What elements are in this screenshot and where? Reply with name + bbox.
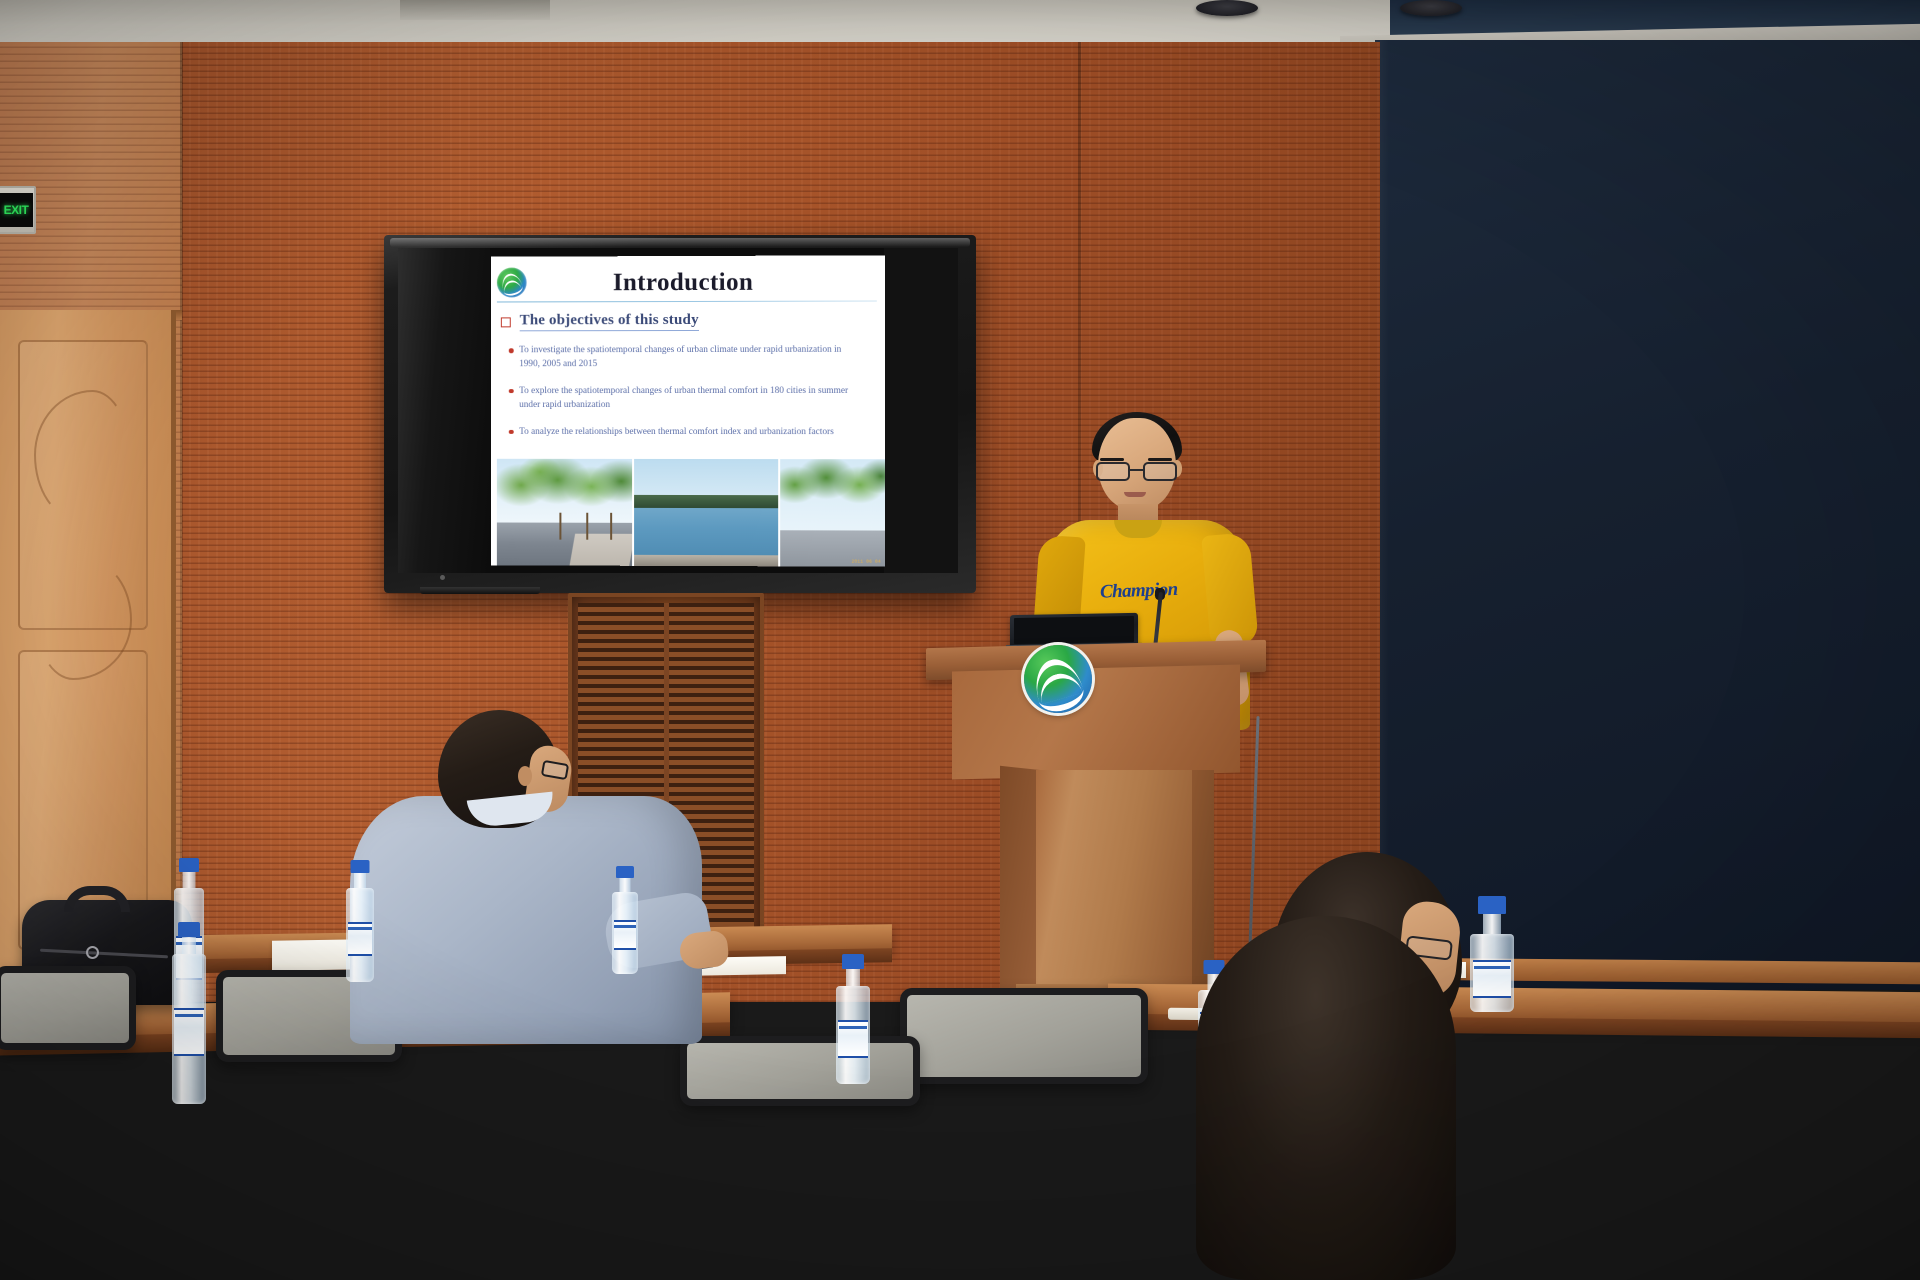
slide-photo-timestamp: 2011 06 04 [852, 560, 881, 565]
screen-panel: Introduction The objectives of this stud… [398, 248, 958, 573]
tshirt-brand-logo: Champion [1100, 578, 1195, 603]
slide-body: The objectives of this study To investig… [491, 304, 885, 440]
glasses-icon [1094, 462, 1180, 482]
chair-back[interactable] [900, 988, 1148, 1084]
conference-room-photo: EXIT Introduction The ob [0, 0, 1920, 1280]
water-bottle[interactable] [172, 922, 206, 1104]
round-bullet-icon [509, 348, 513, 352]
backpack-zipper [40, 949, 168, 959]
slide-bullet-text: To investigate the spatiotemporal change… [519, 343, 861, 372]
ceiling-spotlight-icon [1400, 0, 1462, 16]
exit-sign-label: EXIT [4, 203, 29, 217]
attendee-ear [518, 766, 532, 786]
screen-bezel-glint [390, 238, 970, 247]
water-bottle[interactable] [346, 860, 374, 982]
display-screen: Introduction The objectives of this stud… [384, 235, 976, 593]
slide-photo-strip: 2011 06 04 [491, 459, 885, 567]
slide-bullet-text: To explore the spatiotemporal changes of… [519, 384, 861, 413]
slide-bullet-item: To investigate the spatiotemporal change… [509, 343, 875, 372]
backpack-zipper-pull-icon [86, 946, 99, 959]
round-bullet-icon [509, 430, 513, 434]
presenter-eyebrow [1148, 458, 1172, 461]
slide-bullet-item: To explore the spatiotemporal changes of… [509, 384, 875, 413]
chair-back[interactable] [0, 966, 136, 1050]
round-bullet-icon [509, 389, 513, 393]
presenter-mouth [1124, 492, 1146, 497]
screen-power-led-icon [440, 575, 445, 580]
slide-bullet-item: To analyze the relationships between the… [509, 425, 875, 440]
chair-back[interactable] [680, 1036, 920, 1106]
ceiling-vent [400, 0, 550, 20]
square-bullet-icon [501, 317, 511, 327]
podium-globe-logo-icon [1024, 645, 1092, 713]
slide-bullet-text: To analyze the relationships between the… [519, 425, 834, 440]
slide-photo-lake [634, 459, 778, 566]
slide-photo-park-road [497, 459, 632, 566]
attendee-hand [678, 930, 730, 971]
slide-photo-avenue: 2011 06 04 [780, 459, 885, 567]
glasses-bridge [1130, 469, 1143, 471]
glasses-lens-left [1096, 462, 1130, 481]
blue-wall-panel [1375, 40, 1920, 990]
glasses-lens-right [1143, 462, 1177, 481]
ceiling-spotlight-icon [1196, 0, 1258, 16]
presentation-slide: Introduction The objectives of this stud… [491, 255, 885, 566]
screen-stand [420, 587, 540, 594]
water-bottle[interactable] [836, 954, 870, 1084]
laptop-screen-panel [1014, 616, 1134, 644]
foreground-attendee-head [1196, 916, 1456, 1280]
seated-attendee [350, 700, 710, 1040]
slide-bullet-list: To investigate the spatiotemporal change… [509, 343, 875, 439]
screen-letterbox-right [884, 248, 958, 573]
presenter-eyebrow [1100, 458, 1124, 461]
exit-sign: EXIT [0, 186, 36, 234]
slide-divider [497, 300, 877, 302]
podium-column [1036, 770, 1196, 998]
slide-header: Introduction [491, 255, 885, 304]
globe-logo-icon [497, 268, 527, 298]
water-bottle[interactable] [612, 866, 638, 974]
slide-section-heading-text: The objectives of this study [520, 312, 699, 331]
screen-letterbox-left [398, 248, 490, 573]
slide-section-heading: The objectives of this study [501, 312, 875, 332]
water-bottle[interactable] [1470, 896, 1514, 1012]
slide-title: Introduction [527, 269, 875, 295]
exit-sign-face: EXIT [0, 193, 33, 227]
podium-front-panel [952, 664, 1240, 779]
podium-column-side [1000, 766, 1040, 998]
